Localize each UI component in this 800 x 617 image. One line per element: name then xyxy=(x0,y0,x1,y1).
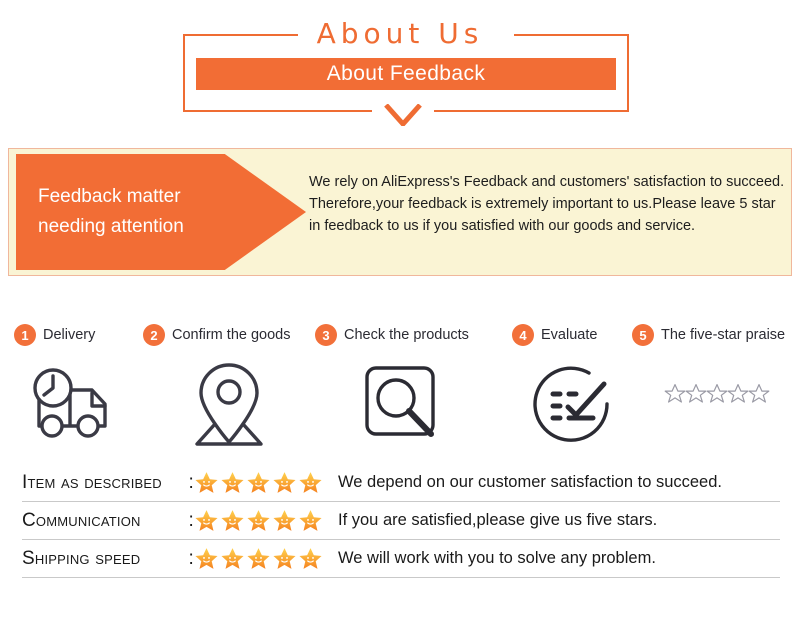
rating-label-text: Item as described xyxy=(22,472,162,493)
gold-star-icon xyxy=(220,546,245,571)
five-outline-stars-icon xyxy=(663,382,768,406)
step-3-number: 3 xyxy=(315,324,337,346)
step-4-number: 4 xyxy=(512,324,534,346)
step-1-label: Delivery xyxy=(43,327,95,343)
rating-stars xyxy=(194,508,324,533)
step-1-head: 1 Delivery xyxy=(14,322,95,348)
feedback-info-page: About Us About Feedback Feedback matter … xyxy=(0,0,800,617)
step-5-label: The five-star praise xyxy=(661,327,785,343)
feedback-notice-arrow-text: Feedback matter needing attention xyxy=(16,182,221,242)
delivery-truck-clock-icon xyxy=(22,360,122,448)
step-3-head: 3 Check the products xyxy=(315,322,469,348)
gold-star-icon xyxy=(246,546,271,571)
rating-stars xyxy=(194,470,324,495)
step-3-check: 3 Check the products xyxy=(315,322,469,348)
about-feedback-label: About Feedback xyxy=(327,62,486,86)
step-5-number: 5 xyxy=(632,324,654,346)
gold-star-icon xyxy=(298,546,323,571)
rating-label: Item as described: xyxy=(22,472,194,494)
rating-description: We depend on our customer satisfaction t… xyxy=(338,473,722,492)
gold-star-icon xyxy=(272,470,297,495)
gold-star-icon xyxy=(298,470,323,495)
step-4-head: 4 Evaluate xyxy=(512,322,597,348)
rating-label-text: Shipping speed xyxy=(22,548,140,569)
header-section: About Us About Feedback xyxy=(0,0,800,132)
checklist-circle-icon xyxy=(519,360,623,452)
rating-stars xyxy=(194,546,324,571)
map-location-pin-icon xyxy=(175,360,283,452)
step-5-praise: 5 The five-star praise xyxy=(632,322,785,348)
steps-row: 1 Delivery 2 Confirm the goods xyxy=(0,322,800,462)
step-1-delivery: 1 Delivery xyxy=(14,322,95,348)
page-title: About Us xyxy=(0,18,800,50)
feedback-notice-body: We rely on AliExpress's Feedback and cus… xyxy=(309,171,787,237)
step-1-number: 1 xyxy=(14,324,36,346)
rating-label: Communication: xyxy=(22,510,194,532)
chevron-down-icon xyxy=(384,104,422,126)
gold-star-icon xyxy=(194,508,219,533)
gold-star-icon xyxy=(272,508,297,533)
rating-label-text: Communication xyxy=(22,510,141,531)
rating-description: If you are satisfied,please give us five… xyxy=(338,511,657,530)
outline-star-icon xyxy=(747,382,771,406)
step-4-evaluate: 4 Evaluate xyxy=(512,322,597,348)
gold-star-icon xyxy=(220,470,245,495)
gold-star-icon xyxy=(272,546,297,571)
step-5-head: 5 The five-star praise xyxy=(632,322,785,348)
rating-row-communication: Communication: If you are satisfied,plea… xyxy=(22,502,780,540)
about-feedback-banner: About Feedback xyxy=(196,58,616,90)
arrow-line-1: Feedback matter xyxy=(38,182,221,212)
step-2-label: Confirm the goods xyxy=(172,327,290,343)
arrow-line-2: needing attention xyxy=(38,212,221,242)
rating-row-item-as-described: Item as described: We depend on our cust… xyxy=(22,464,780,502)
step-3-label: Check the products xyxy=(344,327,469,343)
step-2-head: 2 Confirm the goods xyxy=(143,322,290,348)
gold-star-icon xyxy=(194,470,219,495)
step-4-label: Evaluate xyxy=(541,327,597,343)
rating-description: We will work with you to solve any probl… xyxy=(338,549,656,568)
rating-row-shipping-speed: Shipping speed: We will work with you to… xyxy=(22,540,780,578)
rating-rows: Item as described: We depend on our cust… xyxy=(22,464,780,578)
gold-star-icon xyxy=(220,508,245,533)
gold-star-icon xyxy=(298,508,323,533)
feedback-notice-banner: Feedback matter needing attention We rel… xyxy=(8,148,792,276)
step-2-number: 2 xyxy=(143,324,165,346)
gold-star-icon xyxy=(246,508,271,533)
magnifier-search-icon xyxy=(355,360,453,452)
gold-star-icon xyxy=(246,470,271,495)
feedback-notice-arrow: Feedback matter needing attention xyxy=(16,154,306,270)
gold-star-icon xyxy=(194,546,219,571)
rating-label: Shipping speed: xyxy=(22,548,194,570)
step-2-confirm: 2 Confirm the goods xyxy=(143,322,290,348)
